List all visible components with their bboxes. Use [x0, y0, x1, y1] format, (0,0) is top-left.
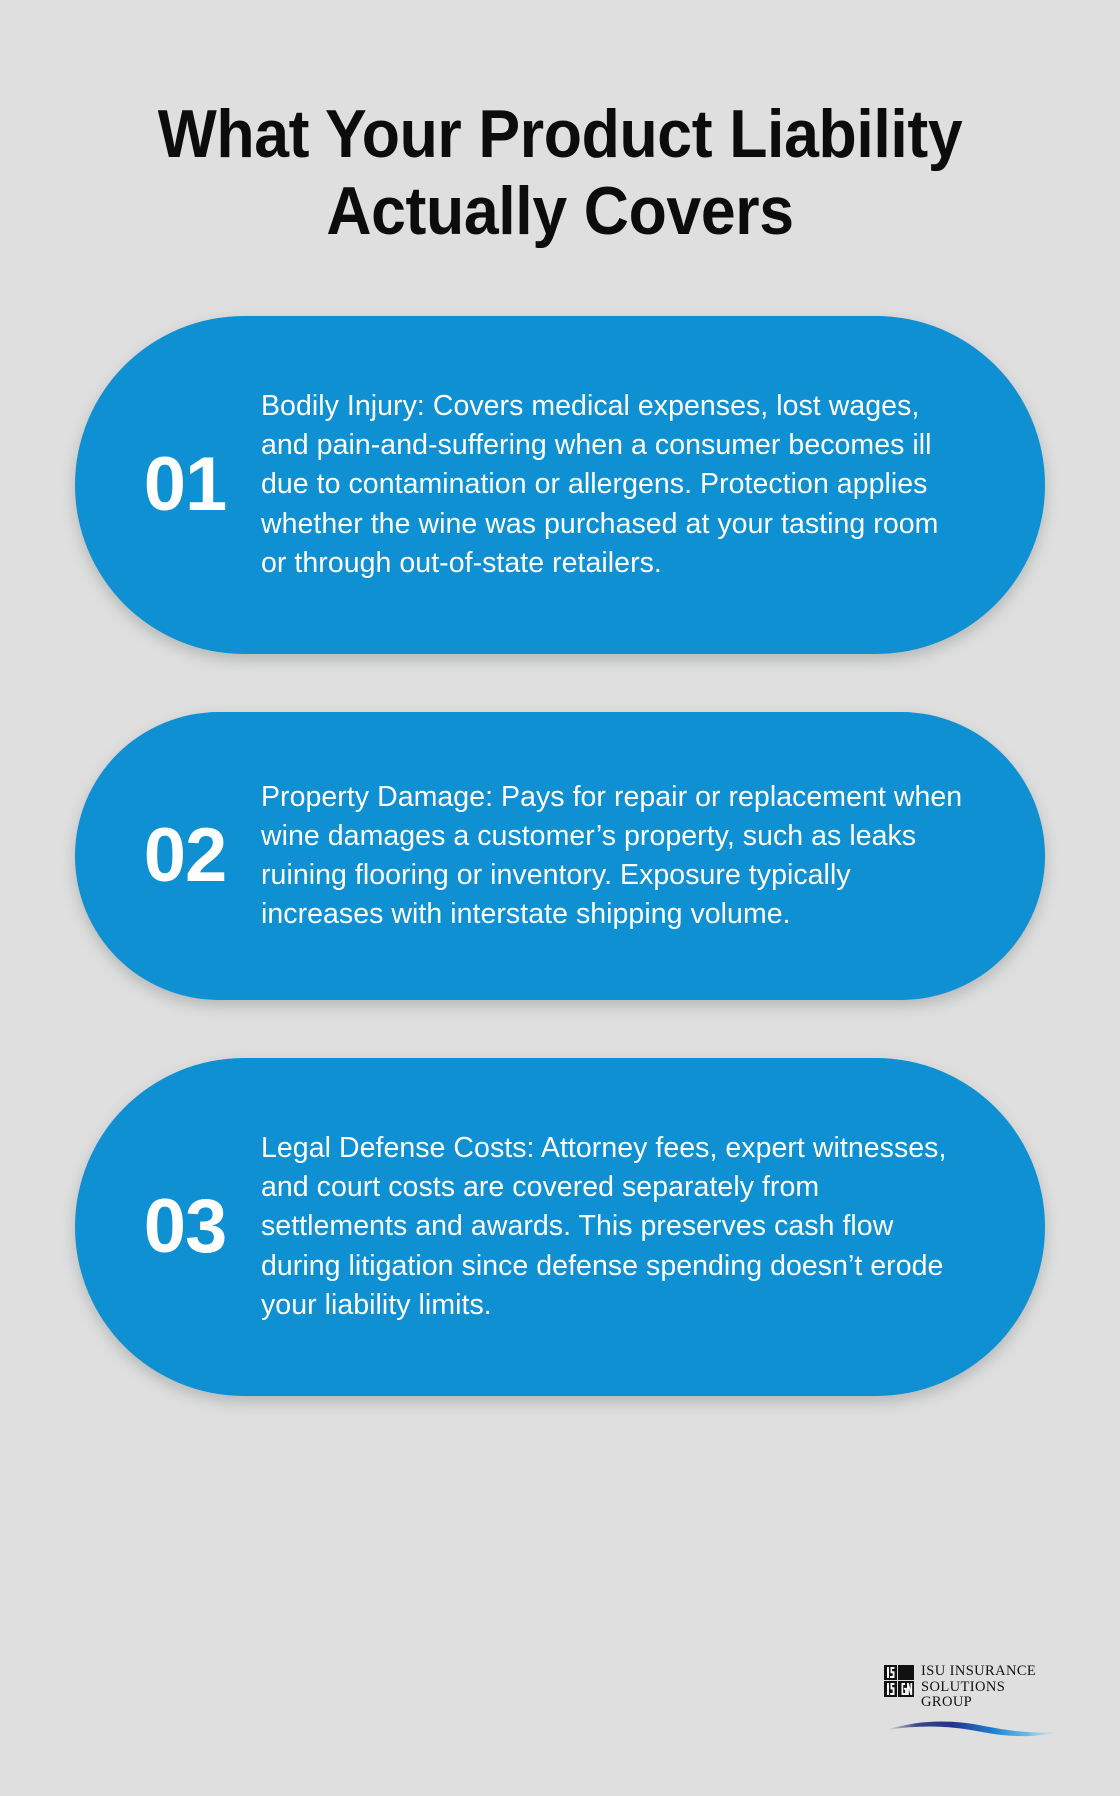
logo-wordmark: ISU INSURANCE SOLUTIONS GROUP [921, 1664, 1060, 1711]
logo-lockup: ISU INSURANCE SOLUTIONS GROUP [884, 1664, 1060, 1711]
cards-list: 01 Bodily Injury: Covers medical expense… [0, 316, 1120, 1454]
card-body-text: Legal Defense Costs: Attorney fees, expe… [261, 1129, 967, 1324]
card-body-text: Property Damage: Pays for repair or repl… [261, 778, 967, 934]
card-number-badge: 02 [109, 818, 261, 894]
logo-line-1: ISU INSURANCE [921, 1664, 1060, 1680]
card-number-badge: 03 [109, 1189, 261, 1265]
page-title-container: What Your Product Liability Actually Cov… [0, 96, 1120, 250]
list-item: 03 Legal Defense Costs: Attorney fees, e… [75, 1058, 1045, 1396]
infographic-page: What Your Product Liability Actually Cov… [0, 0, 1120, 1796]
logo-line-2: SOLUTIONS GROUP [921, 1680, 1060, 1711]
card-body-text: Bodily Injury: Covers medical expenses, … [261, 387, 967, 582]
list-item: 01 Bodily Injury: Covers medical expense… [75, 316, 1045, 654]
isg-monogram-icon [884, 1665, 914, 1697]
logo-swoosh-icon [884, 1717, 1060, 1743]
list-item: 02 Property Damage: Pays for repair or r… [75, 712, 1045, 1000]
card-number-badge: 01 [109, 447, 261, 523]
company-logo: ISU INSURANCE SOLUTIONS GROUP [884, 1664, 1060, 1750]
page-title: What Your Product Liability Actually Cov… [45, 96, 1075, 250]
